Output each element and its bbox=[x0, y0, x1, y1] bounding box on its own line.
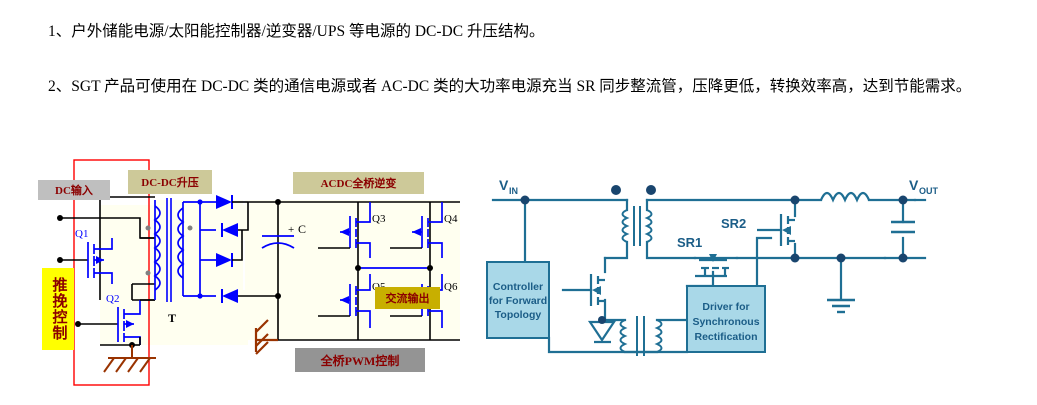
output-inductor bbox=[821, 193, 869, 200]
sr1-label: SR1 bbox=[677, 235, 702, 250]
polarity-dot-secondary bbox=[646, 185, 656, 195]
transformer-main bbox=[611, 185, 656, 246]
paragraph-1: 1、户外储能电源/太阳能控制器/逆变器/UPS 等电源的 DC-DC 升压结构。 bbox=[48, 20, 544, 45]
ground-symbol-left bbox=[104, 345, 156, 372]
driver-line-3: Rectification bbox=[694, 331, 757, 343]
label-ac-output: 交流输出 bbox=[375, 287, 440, 309]
vin-label: V IN bbox=[499, 177, 518, 196]
capacitor-polarity-label: + bbox=[288, 224, 294, 236]
driver-line-1: Driver for bbox=[702, 301, 749, 313]
sr2-label: SR2 bbox=[721, 216, 746, 231]
vout-label-subscript: OUT bbox=[919, 186, 939, 196]
label-dc-input: DC输入 bbox=[38, 180, 110, 200]
transformer-drive bbox=[621, 316, 662, 356]
controller-line-3: Topology bbox=[495, 309, 542, 321]
vout-label: V OUT bbox=[909, 177, 939, 196]
vin-label-subscript: IN bbox=[509, 186, 518, 196]
region-fills bbox=[100, 200, 460, 345]
label-dcdc-boost: DC-DC升压 bbox=[128, 170, 212, 194]
driver-block: Driver for Synchronous Rectification bbox=[687, 286, 765, 352]
transformer-label: T bbox=[168, 311, 176, 325]
controller-block: Controller for Forward Topology bbox=[487, 262, 549, 338]
vin-label-text: V bbox=[499, 177, 509, 193]
page-root: 1、户外储能电源/太阳能控制器/逆变器/UPS 等电源的 DC-DC 升压结构。… bbox=[0, 0, 1037, 405]
mosfet-q2-label: Q2 bbox=[106, 293, 119, 305]
mosfet-sr1: SR1 bbox=[677, 235, 729, 276]
mosfet-q3-label: Q3 bbox=[372, 213, 386, 225]
controller-line-1: Controller bbox=[493, 281, 543, 293]
node-dots bbox=[521, 196, 908, 263]
label-push-pull-control: 推挽控制 bbox=[42, 268, 74, 350]
mosfet-q1-label: Q1 bbox=[75, 228, 88, 240]
figure-right-circuit: SR1 SR2 bbox=[465, 150, 1037, 405]
capacitor-label: C bbox=[298, 222, 306, 236]
mosfet-main-switch bbox=[591, 274, 605, 306]
polarity-dot-primary bbox=[611, 185, 621, 195]
ground-symbol bbox=[827, 300, 855, 312]
mosfet-q6-label: Q6 bbox=[444, 281, 458, 293]
mosfet-q4-label: Q4 bbox=[444, 213, 458, 225]
output-capacitor bbox=[891, 222, 915, 232]
driver-line-2: Synchronous bbox=[692, 316, 759, 328]
label-full-bridge-pwm: 全桥PWM控制 bbox=[295, 348, 425, 372]
right-circuit-svg: SR1 SR2 bbox=[465, 150, 1037, 405]
vout-label-text: V bbox=[909, 177, 919, 193]
label-acdc-full-bridge: ACDC全桥逆变 bbox=[293, 172, 424, 194]
paragraph-2: 2、SGT 产品可使用在 DC-DC 类的通信电源或者 AC-DC 类的大功率电… bbox=[48, 68, 1028, 105]
controller-line-2: for Forward bbox=[489, 295, 547, 307]
